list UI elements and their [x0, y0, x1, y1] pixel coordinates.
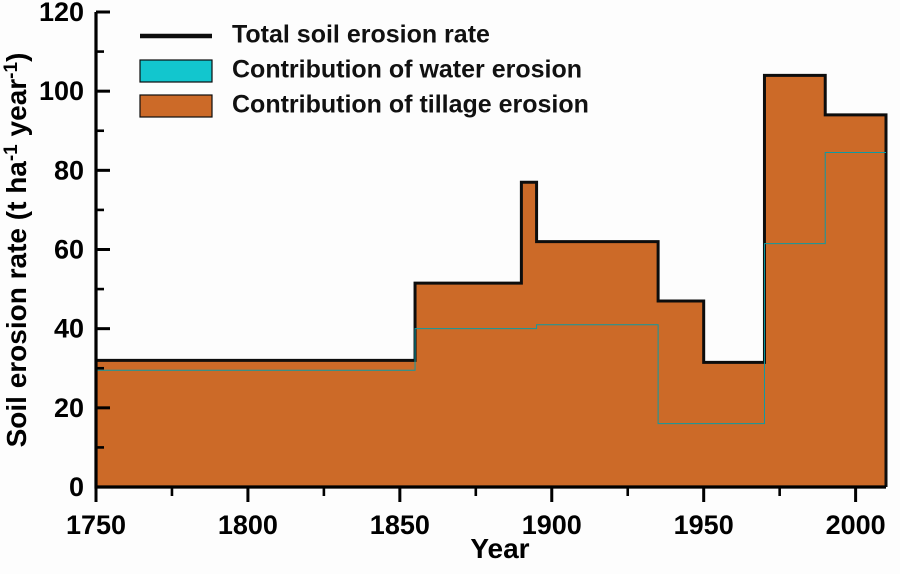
x-tick-label: 1900 — [522, 510, 582, 540]
y-axis-title-prefix: Soil erosion rate (t ha — [1, 161, 32, 448]
x-tick-label: 1950 — [674, 510, 734, 540]
legend-label: Contribution of tillage erosion — [232, 91, 589, 119]
y-axis-title-suffix: ) — [1, 53, 32, 62]
legend-item: Contribution of water erosion — [140, 56, 582, 84]
y-tick-label: 40 — [54, 314, 84, 344]
legend-item: Contribution of tillage erosion — [140, 91, 589, 119]
soil-erosion-chart: 020406080100120 175018001850190019502000… — [0, 0, 900, 574]
legend-label: Total soil erosion rate — [232, 21, 490, 49]
y-tick-label: 60 — [54, 235, 84, 265]
y-axis-title-sup1: -1 — [1, 144, 22, 161]
y-tick-label: 120 — [39, 0, 84, 27]
x-axis-ticks — [96, 487, 856, 502]
x-tick-label: 1750 — [66, 510, 126, 540]
y-axis-title: Soil erosion rate (t ha-1 year-1) — [1, 53, 32, 448]
svg-text:Soil erosion rate (t ha-1 year: Soil erosion rate (t ha-1 year-1) — [1, 53, 32, 448]
legend-label: Contribution of water erosion — [232, 56, 582, 84]
y-axis-tick-labels: 020406080100120 — [39, 0, 84, 502]
y-tick-label: 20 — [54, 393, 84, 423]
x-tick-label: 2000 — [826, 510, 886, 540]
legend-box-swatch — [140, 95, 212, 117]
y-tick-label: 100 — [39, 76, 84, 106]
x-axis-title: Year — [470, 533, 529, 564]
x-tick-label: 1800 — [218, 510, 278, 540]
y-tick-label: 0 — [69, 472, 84, 502]
y-axis-title-sup2: -1 — [1, 61, 22, 78]
chart-container: 020406080100120 175018001850190019502000… — [0, 0, 900, 574]
y-tick-label: 80 — [54, 155, 84, 185]
y-axis-title-middle: year — [1, 79, 32, 144]
x-tick-label: 1850 — [370, 510, 430, 540]
legend-box-swatch — [140, 60, 212, 82]
